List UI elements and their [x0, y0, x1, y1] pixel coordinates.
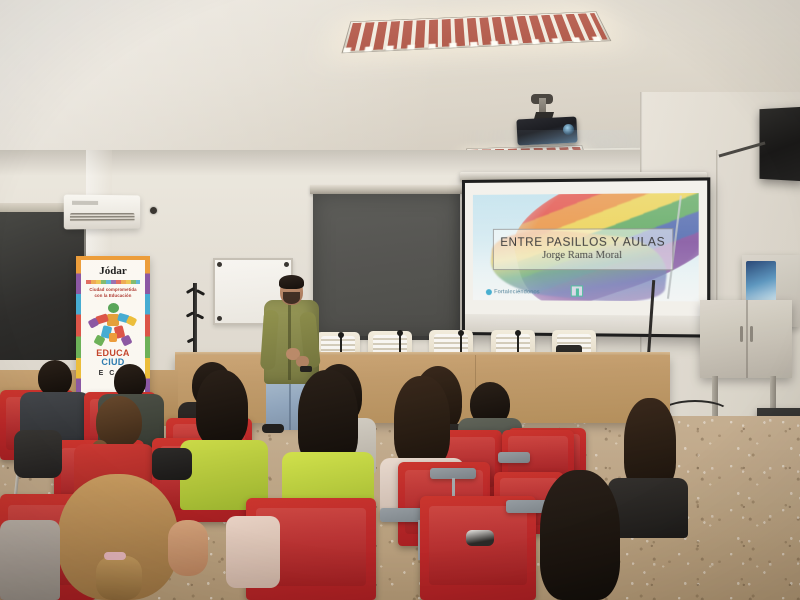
backpack-on-floor: [14, 430, 62, 478]
audience-head-1: [38, 360, 72, 396]
banner-title: Jódar: [99, 266, 127, 277]
audience-head-8: [196, 370, 248, 446]
slide-title: ENTRE PASILLOS Y AULAS: [500, 236, 665, 249]
audience-face-12: [168, 520, 208, 576]
slide-logo-dot-icon: [486, 289, 492, 295]
audience-body-11: [608, 478, 688, 538]
window-blind: [0, 212, 86, 360]
banner-subtitle: Ciudad comprometida con la Educación: [89, 287, 136, 299]
banner-figure-graphic: [88, 303, 138, 347]
audience-shoulder-foreground: [226, 516, 280, 588]
speaker-shoe: [262, 424, 284, 433]
audience-head-2: [114, 364, 146, 398]
audience-head-13: [540, 470, 620, 600]
shoe-on-floor: [466, 530, 494, 546]
speaker-wristwatch: [300, 366, 312, 372]
slide-title-box: ENTRE PASILLOS Y AULAS Jorge Rama Moral: [493, 228, 673, 270]
speaker-shirt-placket: [288, 304, 291, 380]
banner-color-rule: [86, 280, 140, 284]
roller-blind-housing: [310, 185, 462, 194]
slide-logo-text: Fortaleciéndonos: [494, 289, 540, 295]
speaker-beard: [283, 292, 300, 304]
hair-tie: [104, 552, 126, 560]
wall-sensor-icon: [150, 207, 157, 214]
slide-secondary-logo-icon: [571, 285, 583, 296]
slide-subtitle: Jorge Rama Moral: [542, 250, 622, 261]
slide-logo: Fortaleciéndonos: [486, 289, 540, 295]
projection-screen: ENTRE PASILLOS Y AULAS Jorge Rama Moral …: [462, 177, 710, 337]
audience-head-11: [624, 398, 676, 490]
air-conditioner-unit: [64, 195, 140, 230]
chair-writing-tablet-right: [498, 452, 530, 463]
speaker-hair: [279, 275, 304, 289]
roller-blind-board: [313, 194, 460, 338]
audience-ponytail-12: [96, 556, 142, 600]
projector-lens-icon: [563, 124, 574, 135]
audience-bag: [0, 520, 60, 600]
speaker-trouser-seam: [289, 382, 291, 430]
audience-head-10: [394, 376, 450, 468]
bag-on-floor: [152, 448, 192, 480]
presentation-slide: ENTRE PASILLOS Y AULAS Jorge Rama Moral …: [473, 193, 699, 301]
photograph-lecture-hall: ENTRE PASILLOS Y AULAS Jorge Rama Moral …: [0, 0, 800, 600]
